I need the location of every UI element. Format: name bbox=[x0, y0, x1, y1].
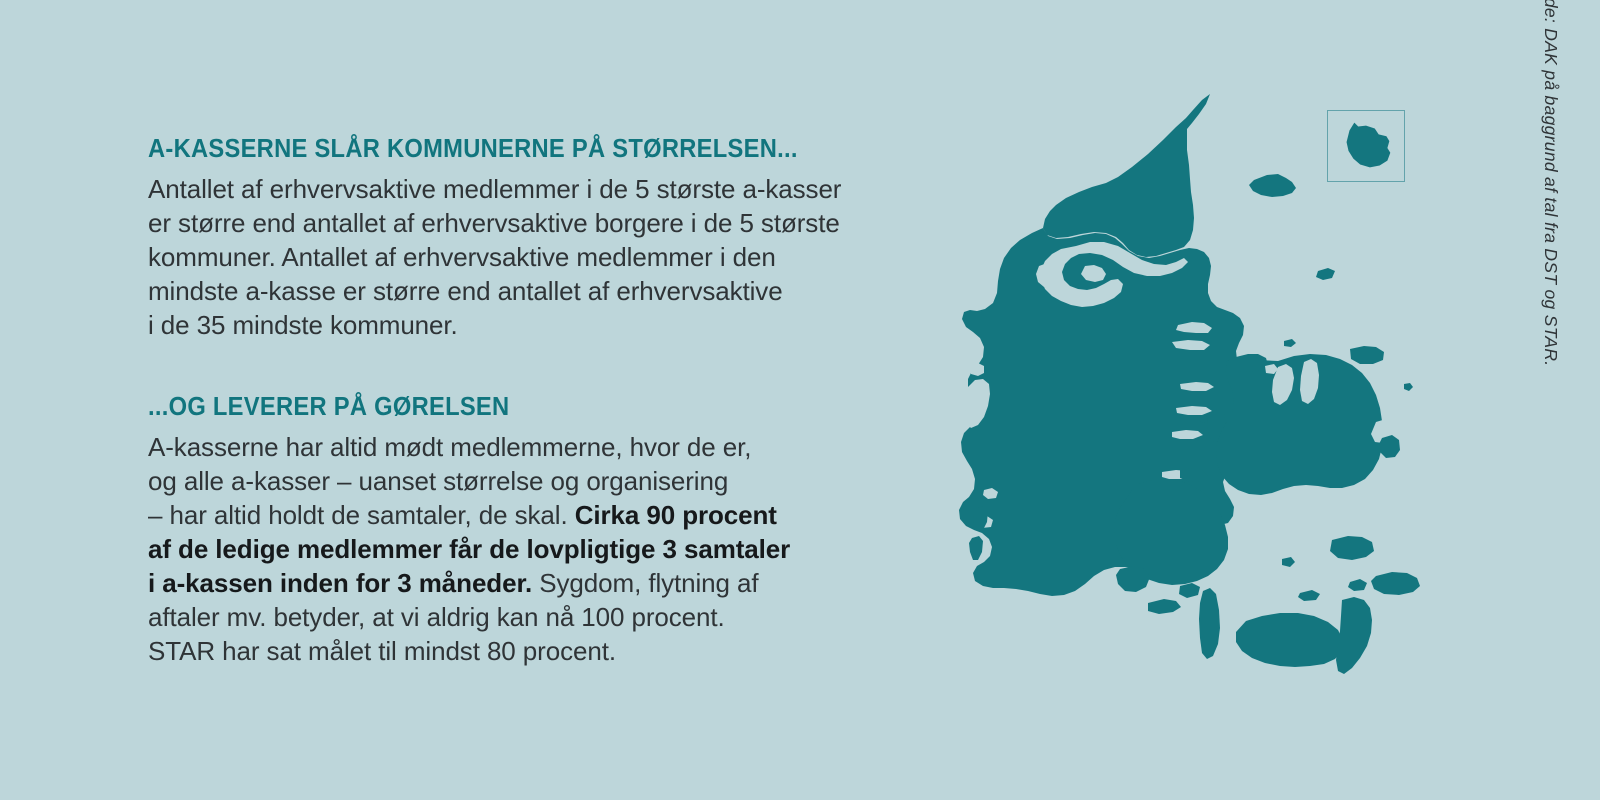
regular-text: aftaler mv. betyder, at vi aldrig kan nå… bbox=[148, 602, 725, 632]
text-block-stoerrelsen: A-KASSERNE SLÅR KOMMUNERNE PÅ STØRRELSEN… bbox=[148, 132, 908, 342]
paragraph-line: mindste a-kasse er større end antallet a… bbox=[148, 274, 908, 308]
paragraph-line: i a-kassen inden for 3 måneder. Sygdom, … bbox=[148, 566, 908, 600]
infographic-page: A-KASSERNE SLÅR KOMMUNERNE PÅ STØRRELSEN… bbox=[0, 0, 1600, 800]
paragraph-goerelsen: A-kasserne har altid mødt medlemmerne, h… bbox=[148, 430, 908, 668]
text-block-goerelsen: ...OG LEVERER PÅ GØRELSEN A-kasserne har… bbox=[148, 390, 908, 668]
regular-text: STAR har sat målet til mindst 80 procent… bbox=[148, 636, 616, 666]
regular-text: A-kasserne har altid mødt medlemmerne, h… bbox=[148, 432, 751, 462]
zealand-island bbox=[1216, 354, 1383, 495]
source-note-container: Kilde: DAK på baggrund af tal fra DST og… bbox=[1548, 172, 1574, 632]
emphasis-text: i a-kassen inden for 3 måneder. bbox=[148, 568, 532, 598]
paragraph-line: aftaler mv. betyder, at vi aldrig kan nå… bbox=[148, 600, 908, 634]
paragraph-stoerrelsen: Antallet af erhvervsaktive medlemmer i d… bbox=[148, 172, 908, 342]
bornholm-island bbox=[1347, 123, 1391, 168]
regular-text: Sygdom, flytning af bbox=[532, 568, 758, 598]
paragraph-line: STAR har sat målet til mindst 80 procent… bbox=[148, 634, 908, 668]
paragraph-line: kommuner. Antallet af erhvervsaktive med… bbox=[148, 240, 908, 274]
emphasis-text: Cirka 90 procent bbox=[575, 500, 777, 530]
paragraph-line: A-kasserne har altid mødt medlemmerne, h… bbox=[148, 430, 908, 464]
heading-stoerrelsen: A-KASSERNE SLÅR KOMMUNERNE PÅ STØRRELSEN… bbox=[148, 132, 855, 166]
paragraph-line: af de ledige medlemmer får de lovpligtig… bbox=[148, 532, 908, 566]
paragraph-line: i de 35 mindste kommuner. bbox=[148, 308, 908, 342]
source-note: Kilde: DAK på baggrund af tal fra DST og… bbox=[1540, 0, 1561, 366]
paragraph-line: er større end antallet af erhvervsaktive… bbox=[148, 206, 908, 240]
regular-text: og alle a-kasser – uanset størrelse og o… bbox=[148, 466, 728, 496]
regular-text: – har altid holdt de samtaler, de skal. bbox=[148, 500, 575, 530]
paragraph-line: og alle a-kasser – uanset størrelse og o… bbox=[148, 464, 908, 498]
emphasis-text: af de ledige medlemmer får de lovpligtig… bbox=[148, 534, 790, 564]
heading-goerelsen: ...OG LEVERER PÅ GØRELSEN bbox=[148, 390, 855, 424]
bornholm-inset-box bbox=[1327, 110, 1405, 182]
paragraph-line: – har altid holdt de samtaler, de skal. … bbox=[148, 498, 908, 532]
paragraph-line: Antallet af erhvervsaktive medlemmer i d… bbox=[148, 172, 908, 206]
text-column: A-KASSERNE SLÅR KOMMUNERNE PÅ STØRRELSEN… bbox=[148, 132, 908, 668]
